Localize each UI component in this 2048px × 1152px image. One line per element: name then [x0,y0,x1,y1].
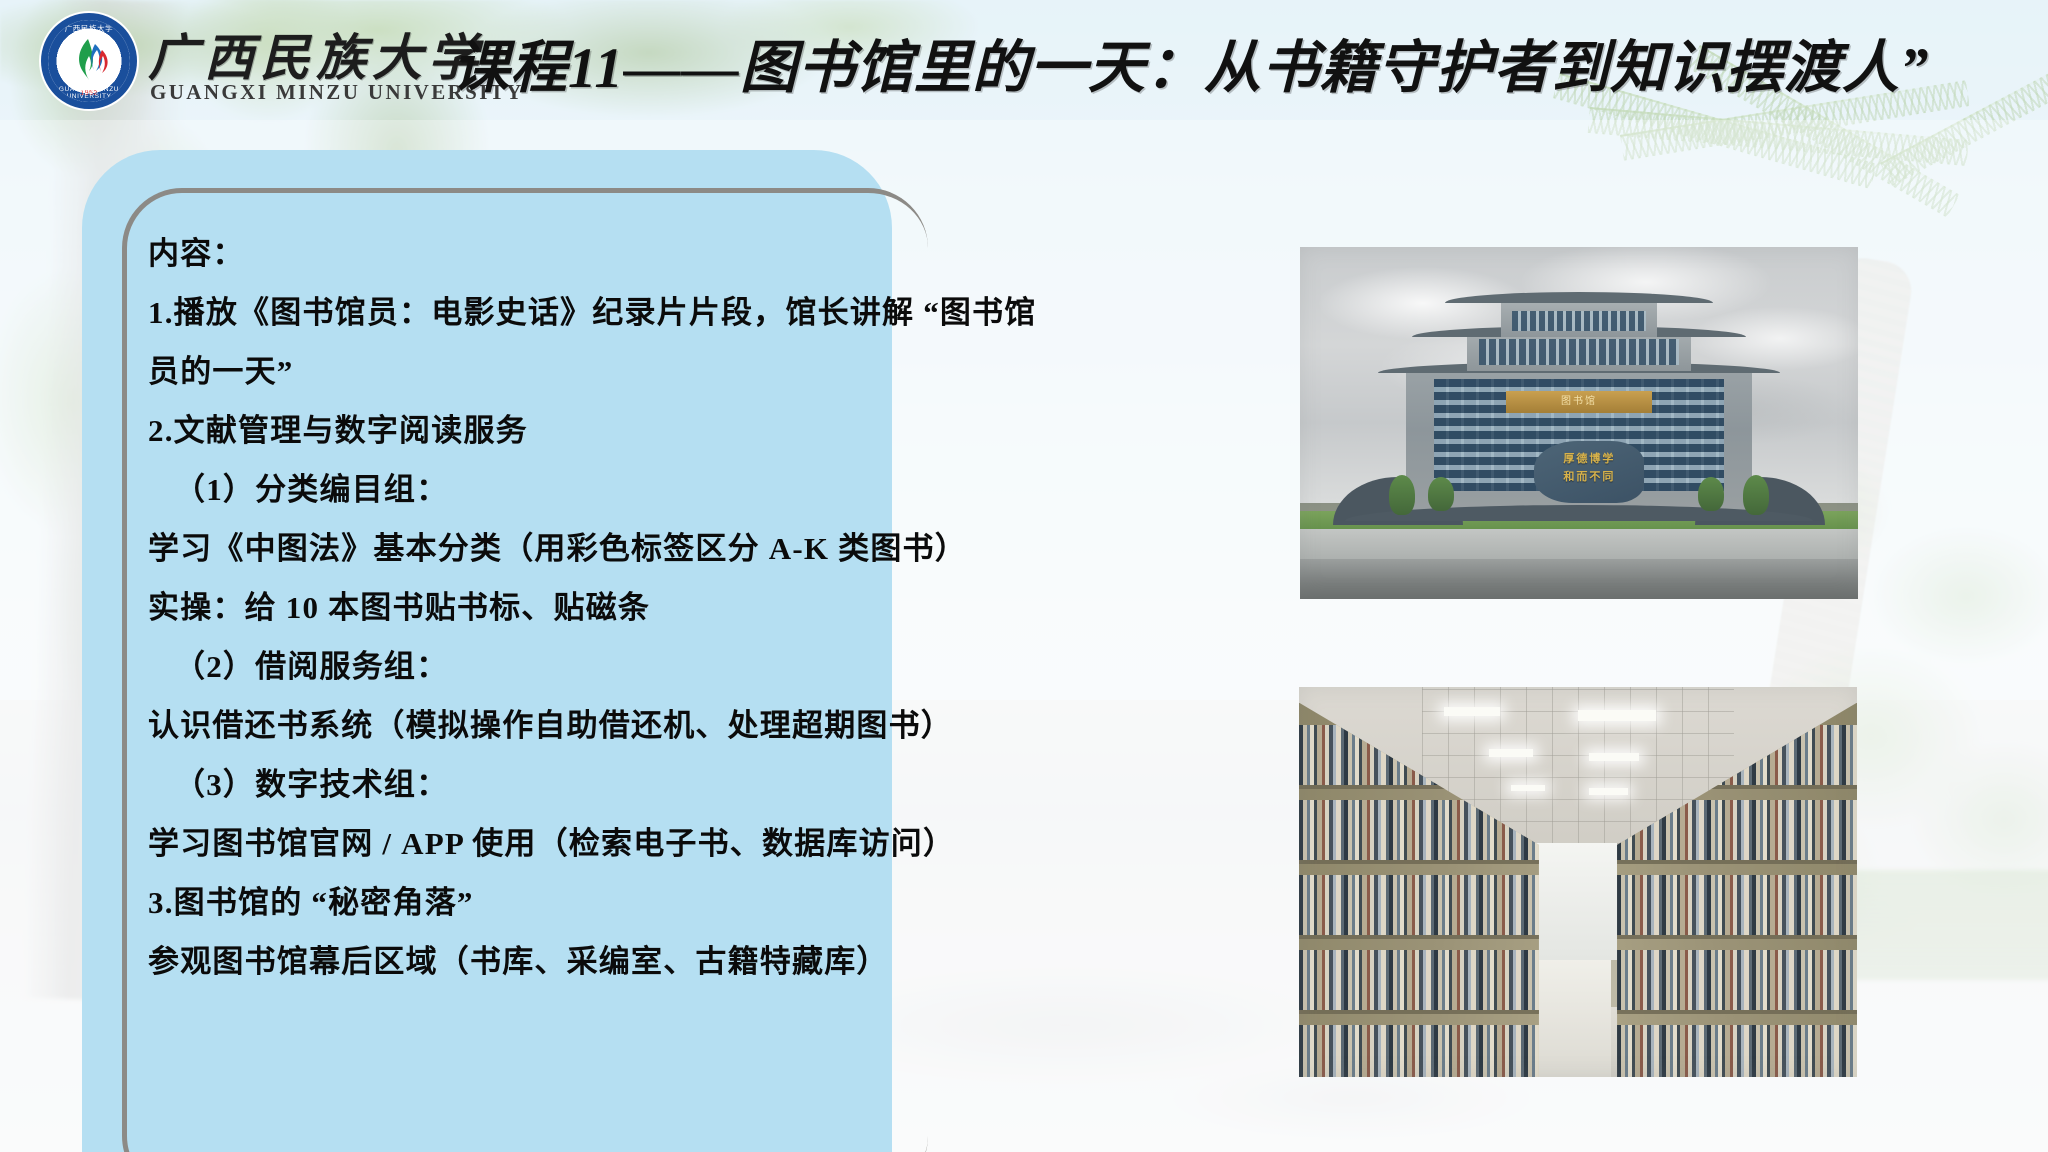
content-line: 参观图书馆幕后区域（书库、采编室、古籍特藏库） [148,946,938,977]
photo-building-plaque: 图书馆 [1506,391,1651,413]
content-line: 2.文献管理与数字阅读服务 [148,415,938,446]
photo-tier-glass [1479,339,1680,365]
photo-stone-monument: 厚德博学 和而不同 [1534,441,1644,503]
content-text-block: 内容： 1.播放《图书馆员：电影史话》纪录片片段，馆长讲解 “图书馆 员的一天”… [148,238,938,1005]
content-line: 内容： [148,238,938,269]
library-building-photo: 图书馆 厚德博学 和而不同 [1300,247,1858,599]
photo-plaza [1300,529,1858,559]
content-line: 员的一天” [148,356,938,387]
logo-flame-icon [68,37,110,81]
content-line: 学习《中图法》基本分类（用彩色标签区分 A-K 类图书） [148,533,938,564]
content-line: 1.播放《图书馆员：电影史话》纪录片片段，馆长讲解 “图书馆 [148,297,938,328]
photo-monument-line1: 厚德博学 [1563,453,1615,465]
photo-far-window [1528,843,1617,960]
photo-road [1300,559,1858,599]
photo-ceiling-light [1589,788,1628,794]
photo-monument-line2: 和而不同 [1563,471,1615,483]
photo-ceiling-light [1511,785,1544,791]
university-logo-icon: 广西民族大学 1952 GUANGXI MINZU UNIVERSITY [48,20,130,102]
slide-canvas: 广西民族大学 1952 GUANGXI MINZU UNIVERSITY 广西民… [0,0,2048,1152]
content-line: （3）数字技术组： [148,769,938,800]
photo-aisle [1533,960,1611,1077]
content-line: 学习图书馆官网 / APP 使用（检索电子书、数据库访问） [148,828,938,859]
photo-ceiling-light [1578,710,1656,721]
content-line: 3.图书馆的 “秘密角落” [148,887,938,918]
logo-arc-bottom-label: GUANGXI MINZU UNIVERSITY [48,86,130,100]
photo-tier-glass [1512,311,1646,331]
content-line: 实操：给 10 本图书贴书标、贴磁条 [148,592,938,623]
photo-ceiling-light [1589,753,1639,761]
content-line: （1）分类编目组： [148,474,938,505]
content-line: 认识借还书系统（模拟操作自助借还机、处理超期图书） [148,710,938,741]
photo-ceiling-light [1444,707,1500,717]
photo-monument-text: 厚德博学 和而不同 [1534,450,1644,486]
library-bookshelves-photo [1299,687,1857,1077]
slide-header: 广西民族大学 1952 GUANGXI MINZU UNIVERSITY 广西民… [0,0,2048,118]
page-title: 课程11——图书馆里的一天：从书籍守护者到知识摆渡人” [452,22,1929,104]
photo-plaque-label: 图书馆 [1506,391,1651,413]
content-line: （2）借阅服务组： [148,651,938,682]
photo-ceiling-light [1489,749,1534,757]
